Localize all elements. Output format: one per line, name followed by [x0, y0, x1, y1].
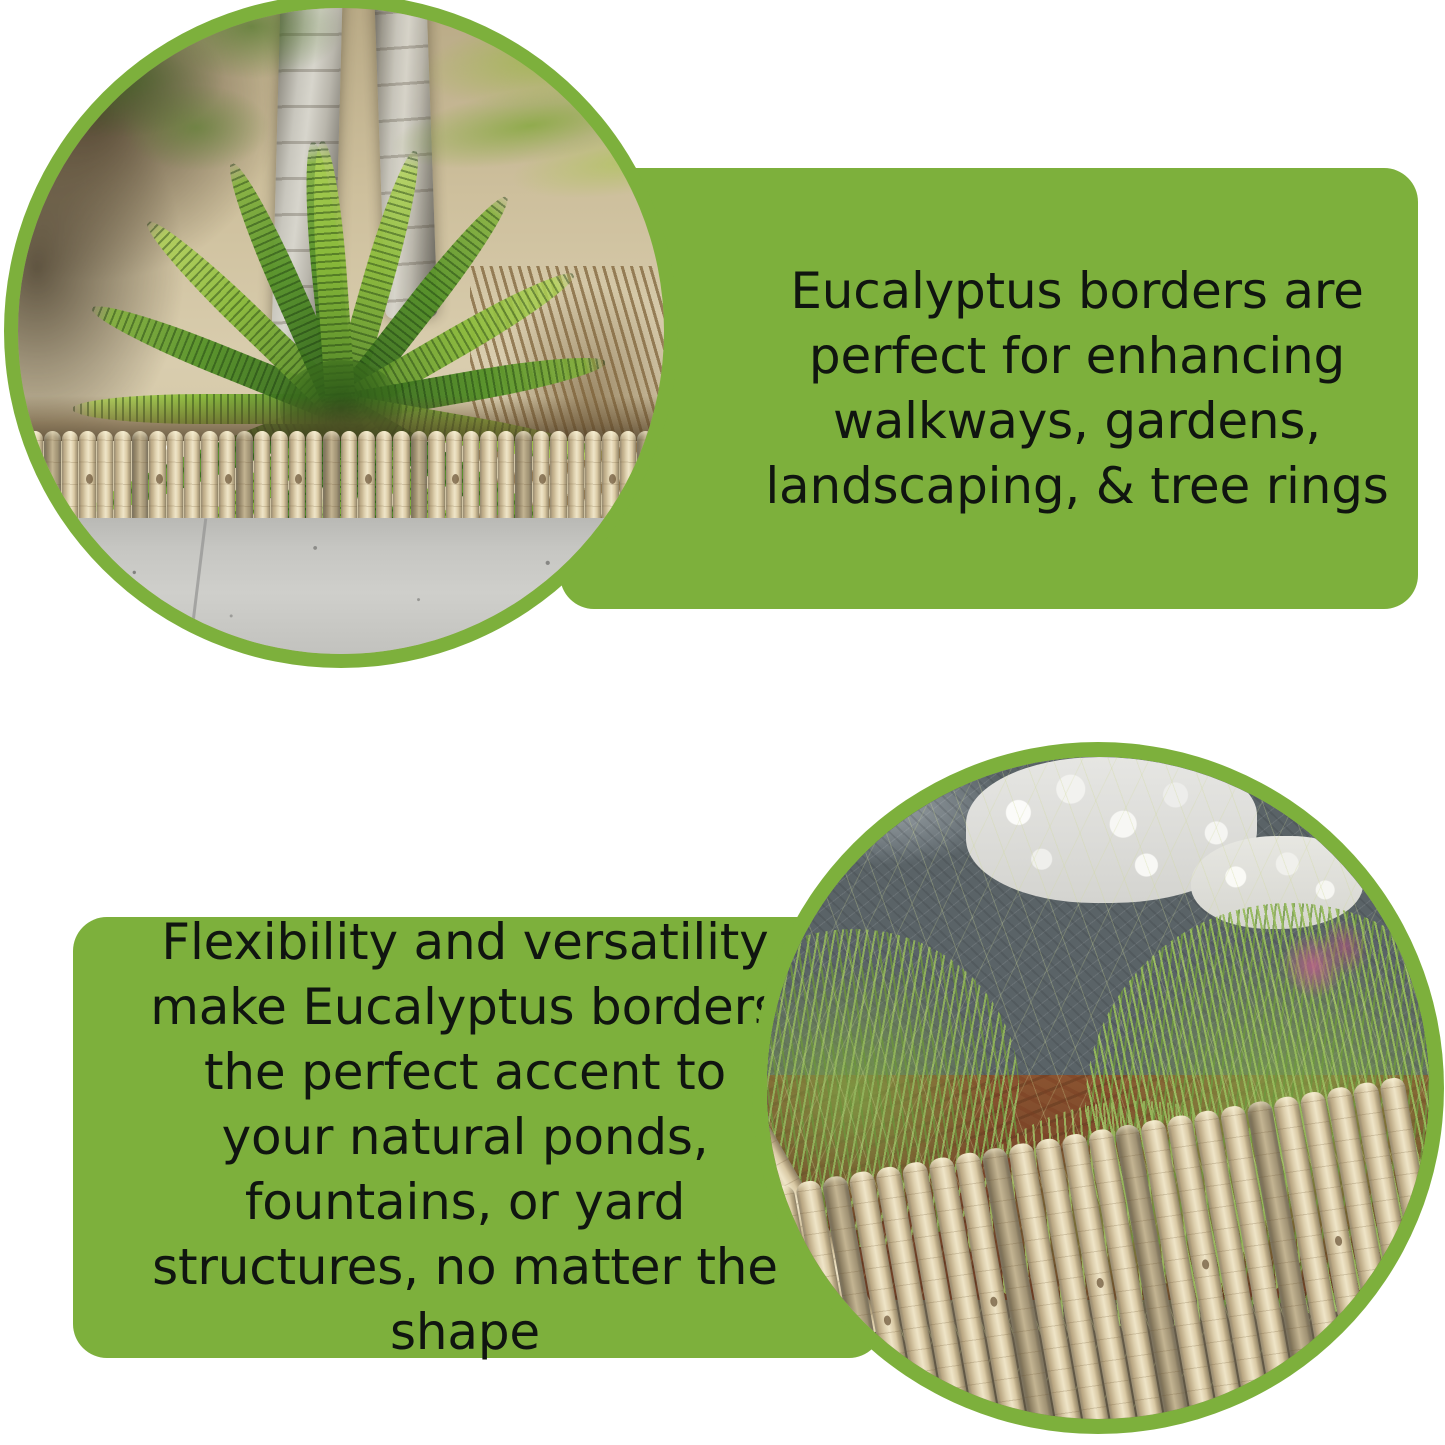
- top-left-photo-scene: [18, 8, 664, 654]
- walkway-speckle-layer: [18, 518, 664, 654]
- bottom-right-photo-medallion: [752, 742, 1444, 1434]
- top-left-photo: [18, 8, 664, 654]
- top-left-photo-medallion: [4, 0, 678, 668]
- bottom-right-photo: [767, 757, 1429, 1419]
- bottom-left-panel-text: Flexibility and versatility make Eucalyp…: [145, 910, 785, 1365]
- top-right-text-panel: Eucalyptus borders are perfect for enhan…: [560, 168, 1418, 609]
- top-right-panel-text: Eucalyptus borders are perfect for enhan…: [757, 259, 1397, 519]
- infographic-page: Eucalyptus borders are perfect for enhan…: [0, 0, 1445, 1445]
- bottom-right-photo-scene: [767, 757, 1429, 1419]
- eucalyptus-log-border-straight: [18, 431, 664, 528]
